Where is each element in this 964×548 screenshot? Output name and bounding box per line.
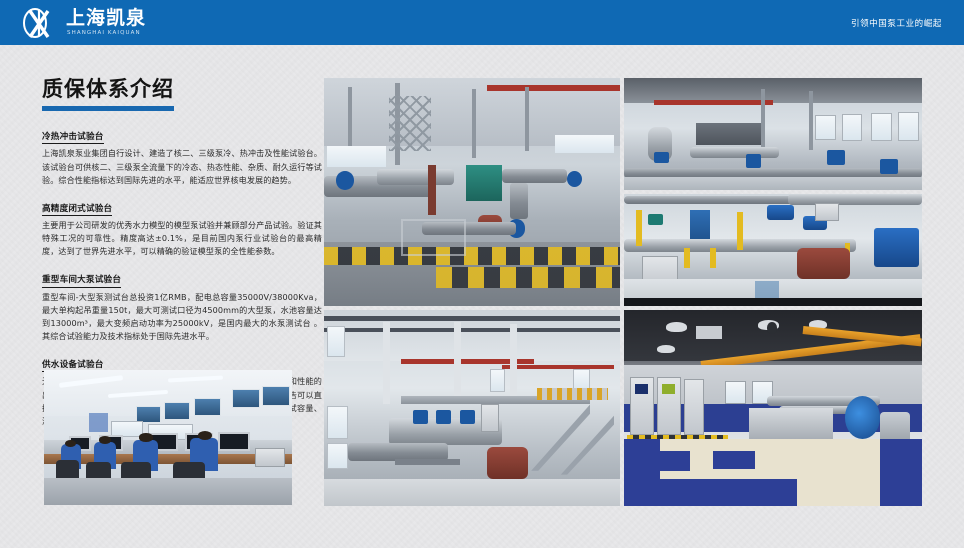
section-item: 重型车间大泵试验台 重型车间-大型泵测试台总投资1亿RMB，配电总容量35000… — [42, 267, 322, 343]
floor-blue-band — [624, 479, 797, 506]
photo-grid — [324, 78, 922, 506]
dark-ceiling — [624, 78, 922, 103]
control-room-photo — [44, 370, 292, 505]
valve — [567, 171, 582, 187]
steel-truss — [389, 96, 430, 151]
pipe-run — [690, 147, 779, 157]
floor — [324, 479, 620, 506]
kaiquan-monogram-icon — [22, 7, 60, 39]
pipeline-scene — [624, 194, 922, 306]
safety-post — [636, 210, 642, 246]
water-supply-test-lab-photo — [624, 310, 922, 506]
section-item: 高精度闭式试验台 主要用于公司研发的优秀水力模型的模型泵试验并兼顾部分产品试验。… — [42, 196, 322, 259]
valve — [413, 410, 428, 424]
large-motor — [874, 228, 919, 267]
floor-blue-tile — [713, 451, 755, 469]
pump-test-bench-photo — [324, 78, 620, 306]
valve — [880, 159, 898, 175]
window — [490, 369, 505, 393]
section-item: 冷热冲击试验台 上海凯泉泵业集团自行设计、建造了核二、三级泵冷、热冲击及性能试验… — [42, 124, 322, 187]
water-supply-scene — [624, 310, 922, 506]
staircase — [561, 412, 614, 475]
roof-beam — [324, 316, 620, 321]
window — [327, 443, 348, 468]
column — [510, 324, 517, 398]
ceiling-lamp — [657, 345, 675, 353]
column — [809, 91, 813, 149]
section-body: 主要用于公司研发的优秀水力模型的模型泵试验并兼顾部分产品试验。验证其特殊工况的可… — [42, 219, 322, 258]
valve — [648, 214, 663, 225]
printer — [255, 448, 285, 467]
heavy-workshop-photo — [324, 310, 620, 506]
wall-monitor — [164, 402, 190, 420]
valve — [460, 410, 475, 424]
wall-notice — [89, 413, 109, 432]
valve — [827, 150, 845, 166]
section-heading: 重型车间大泵试验台 — [42, 275, 121, 287]
staircase — [531, 404, 590, 471]
section-body: 上海凯泉泵业集团自行设计、建造了核二、三级泵冷、热冲击及性能试验台。该试验台可供… — [42, 147, 322, 186]
valve — [654, 152, 669, 163]
blue-vessel — [845, 396, 881, 439]
overhead-crane-beam — [487, 85, 620, 91]
machinery-block — [696, 123, 762, 145]
valve — [746, 154, 761, 167]
floor-blue-tile — [654, 451, 690, 471]
floor — [624, 177, 922, 190]
motor — [767, 205, 794, 220]
pipe-run — [502, 169, 567, 183]
window-band — [555, 135, 614, 153]
window — [327, 326, 345, 357]
pump-casing — [797, 248, 851, 279]
control-room-scene — [44, 370, 292, 505]
safety-post — [684, 248, 690, 268]
operator-head — [139, 433, 152, 441]
equipment-row — [537, 388, 608, 400]
header-tagline: 引领中国泵工业的崛起 — [851, 17, 942, 29]
wall-monitor — [232, 389, 259, 408]
section-heading: 高精度闭式试验台 — [42, 204, 112, 216]
wall-monitor — [194, 398, 221, 416]
section-body: 重型车间-大型泵测试台总投资1亿RMB，配电总容量35000V/38000Kva… — [42, 291, 322, 343]
overhead-crane-beam — [502, 365, 614, 369]
window — [815, 115, 836, 140]
logo-english-text: SHANGHAI KAIQUAN — [67, 31, 146, 37]
pipeline-test-line-photo — [624, 194, 922, 306]
window — [725, 381, 746, 405]
logo-chinese-text: 上海凯泉 — [66, 9, 146, 28]
closed-loop-test-rig-photo — [624, 78, 922, 190]
hazard-stripe-floor — [436, 267, 620, 288]
operator-head — [198, 431, 212, 440]
vertical-pipe — [510, 183, 528, 219]
valve — [336, 171, 354, 189]
hvac-diffuser — [696, 326, 723, 340]
page-header: 上海凯泉 SHANGHAI KAIQUAN 引领中国泵工业的崛起 — [0, 0, 964, 45]
security-camera — [767, 322, 777, 334]
overhead-crane-beam — [654, 100, 773, 104]
pump-test-scene — [324, 78, 620, 306]
frame — [428, 165, 437, 215]
photo-bottom-edge — [624, 298, 922, 306]
column — [761, 89, 765, 151]
page-title: 质保体系介绍 — [42, 78, 322, 101]
valve — [436, 410, 451, 424]
floor — [44, 478, 292, 505]
column — [472, 89, 476, 157]
window — [842, 114, 863, 141]
pump-unit — [487, 447, 528, 478]
column — [454, 322, 461, 400]
window — [898, 112, 919, 141]
heavy-workshop-scene — [324, 310, 620, 506]
control-cabinet — [684, 379, 705, 436]
junction-box — [815, 203, 839, 221]
title-underline-rule — [42, 106, 174, 111]
floor-blue-band — [880, 439, 922, 506]
safety-post — [710, 248, 716, 268]
column — [525, 87, 529, 151]
wall-monitor — [262, 386, 289, 406]
hmi-panel — [662, 384, 675, 394]
upper-pipe — [624, 196, 803, 204]
hmi-panel — [635, 384, 648, 394]
control-cabinet — [481, 404, 499, 431]
upper-pipe — [788, 194, 922, 205]
guard-rail — [401, 219, 466, 255]
window — [327, 406, 348, 439]
wall-monitor — [136, 406, 161, 422]
closed-loop-scene — [624, 78, 922, 190]
workstation-monitor — [218, 432, 250, 451]
roof-beam — [324, 328, 620, 332]
operator-head — [99, 436, 111, 443]
window — [871, 113, 892, 141]
column — [383, 322, 390, 404]
pump-skid — [749, 408, 832, 439]
large-pipe — [377, 169, 454, 185]
work-platform — [395, 459, 460, 465]
section-heading: 冷热冲击试验台 — [42, 132, 104, 144]
heat-exchanger — [466, 165, 502, 201]
brand-logo[interactable]: 上海凯泉 SHANGHAI KAIQUAN — [22, 7, 146, 39]
ceiling-lamp — [666, 322, 687, 332]
hazard-stripe-floor — [324, 247, 620, 265]
window-band — [327, 146, 386, 167]
safety-post — [737, 212, 743, 250]
